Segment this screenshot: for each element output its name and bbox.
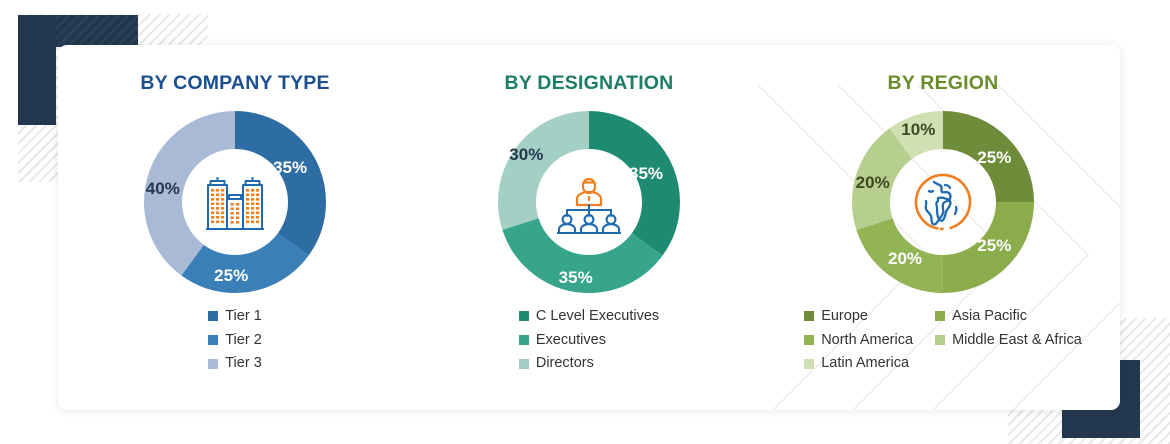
navy-corner-leg-top-left: [18, 15, 56, 125]
legend-item-c-level-executives[interactable]: C Level Executives: [519, 308, 659, 325]
legend-swatch-icon: [935, 311, 945, 321]
legend-swatch-icon: [208, 335, 218, 345]
slice-label-north-america: 20%: [888, 249, 922, 269]
legend-item-directors[interactable]: Directors: [519, 355, 659, 372]
legend-company-type: Tier 1 Tier 2 Tier 3: [208, 308, 262, 372]
legend-item-europe[interactable]: Europe: [804, 308, 913, 325]
slice-label-executives: 35%: [559, 268, 593, 288]
legend-swatch-icon: [208, 359, 218, 369]
legend-label: Asia Pacific: [952, 308, 1027, 325]
legend-label: Directors: [536, 355, 594, 372]
legend-label: North America: [821, 332, 913, 349]
panel-by-region: BY REGION: [766, 45, 1120, 410]
legend-label: C Level Executives: [536, 308, 659, 325]
legend-item-tier-1[interactable]: Tier 1: [208, 308, 262, 325]
donut-chart-company-type: 35% 25% 40%: [140, 107, 330, 297]
legend-swatch-icon: [935, 335, 945, 345]
legend-label: Executives: [536, 332, 606, 349]
donut-chart-designation: 35% 35% 30%: [494, 107, 684, 297]
decorative-background: BY COMPANY TYPE 35%: [0, 0, 1170, 444]
legend-swatch-icon: [519, 311, 529, 321]
legend-swatch-icon: [804, 359, 814, 369]
legend-label: Latin America: [821, 355, 909, 372]
panel-title-company-type: BY COMPANY TYPE: [140, 72, 329, 95]
infographic-card: BY COMPANY TYPE 35%: [58, 45, 1120, 410]
slice-label-tier-1: 35%: [273, 158, 307, 178]
panel-title-designation: BY DESIGNATION: [505, 72, 674, 95]
legend-swatch-icon: [519, 359, 529, 369]
legend-swatch-icon: [804, 311, 814, 321]
slice-label-tier-3: 40%: [146, 179, 180, 199]
legend-label: Tier 1: [225, 308, 262, 325]
legend-item-middle-east-africa[interactable]: Middle East & Africa: [935, 332, 1082, 349]
legend-item-tier-3[interactable]: Tier 3: [208, 355, 262, 372]
slice-label-middle-east-africa: 20%: [856, 173, 890, 193]
panel-by-designation: BY DESIGNATION 35% 35%: [412, 45, 766, 410]
panel-by-company-type: BY COMPANY TYPE 35%: [58, 45, 412, 410]
legend-item-north-america[interactable]: North America: [804, 332, 913, 349]
org-chart-people-icon: [547, 160, 631, 244]
slice-label-directors: 30%: [509, 145, 543, 165]
legend-item-tier-2[interactable]: Tier 2: [208, 332, 262, 349]
globe-icon: [901, 160, 985, 244]
legend-label: Middle East & Africa: [952, 332, 1082, 349]
slice-label-tier-2: 25%: [214, 266, 248, 286]
legend-label: Tier 2: [225, 332, 262, 349]
legend-swatch-icon: [208, 311, 218, 321]
navy-corner-arm-bottom-right: [1062, 408, 1140, 438]
legend-label: Tier 3: [225, 355, 262, 372]
legend-item-executives[interactable]: Executives: [519, 332, 659, 349]
legend-swatch-icon: [519, 335, 529, 345]
legend-item-latin-america[interactable]: Latin America: [804, 355, 913, 372]
office-buildings-icon: [193, 160, 277, 244]
slice-label-c-level-executives: 35%: [629, 164, 663, 184]
legend-swatch-icon: [804, 335, 814, 345]
panel-title-region: BY REGION: [888, 72, 999, 95]
slice-label-latin-america: 10%: [901, 120, 935, 140]
legend-designation: C Level Executives Executives Directors: [519, 308, 659, 372]
donut-chart-region: 25% 25% 20% 20% 10%: [848, 107, 1038, 297]
legend-region: Europe Asia Pacific North America Middle…: [804, 308, 1082, 372]
legend-item-asia-pacific[interactable]: Asia Pacific: [935, 308, 1082, 325]
legend-label: Europe: [821, 308, 868, 325]
